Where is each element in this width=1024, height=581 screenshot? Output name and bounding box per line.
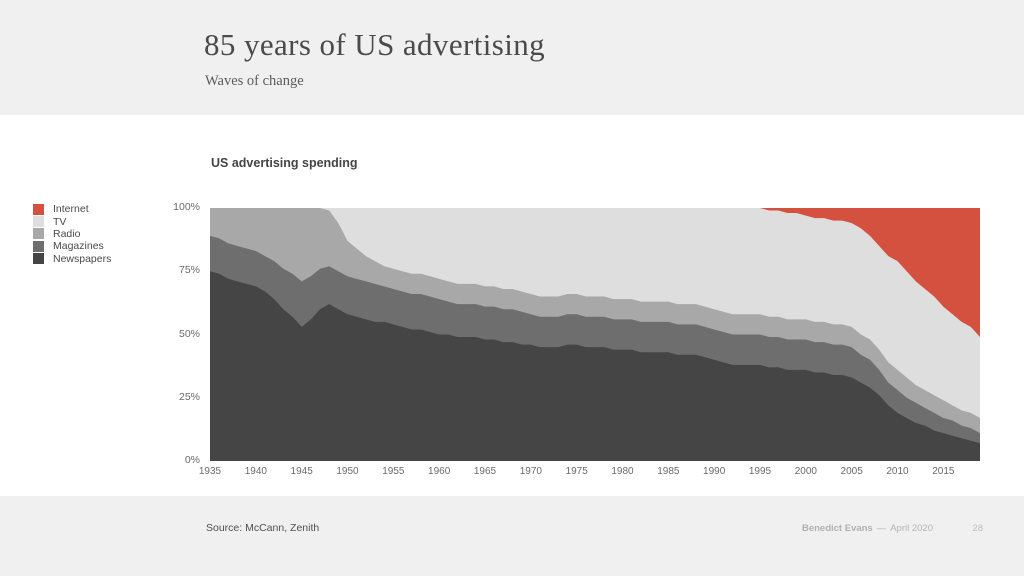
y-axis-tick-label: 50%: [140, 328, 200, 340]
legend-swatch-icon: [33, 216, 44, 227]
y-axis-tick-label: 0%: [140, 454, 200, 466]
legend-item-label: Internet: [53, 203, 89, 215]
legend-item-label: TV: [53, 216, 66, 228]
credit-dash: —: [877, 523, 887, 534]
legend-swatch-icon: [33, 253, 44, 264]
author-name: Benedict Evans: [802, 523, 873, 534]
legend-item-label: Magazines: [53, 240, 104, 252]
area-band-newspapers: [210, 271, 980, 461]
legend-item[interactable]: Radio: [33, 228, 111, 240]
page-subtitle: Waves of change: [205, 73, 304, 90]
footer-credit: Benedict Evans—April 2020: [802, 523, 933, 534]
legend-item[interactable]: Internet: [33, 203, 111, 215]
area-band-internet: [210, 208, 980, 461]
area-band-tv: [210, 208, 980, 461]
chart-title: US advertising spending: [211, 156, 358, 170]
area-band-magazines: [210, 236, 980, 461]
page-title: 85 years of US advertising: [204, 27, 545, 63]
legend-item-label: Radio: [53, 228, 80, 240]
chart-legend: InternetTVRadioMagazinesNewspapers: [33, 203, 111, 265]
page-number: 28: [972, 523, 983, 534]
legend-item[interactable]: TV: [33, 215, 111, 227]
legend-swatch-icon: [33, 228, 44, 239]
legend-item[interactable]: Newspapers: [33, 253, 111, 265]
credit-date: April 2020: [890, 523, 933, 534]
legend-swatch-icon: [33, 241, 44, 252]
source-note: Source: McCann, Zenith: [206, 522, 319, 534]
legend-swatch-icon: [33, 204, 44, 215]
slide-canvas: 85 years of US advertising Waves of chan…: [0, 0, 1024, 576]
footer-band: [0, 496, 1024, 576]
y-axis-tick-label: 100%: [140, 201, 200, 213]
legend-item[interactable]: Magazines: [33, 240, 111, 252]
y-axis-tick-label: 75%: [140, 264, 200, 276]
y-axis-tick-label: 25%: [140, 391, 200, 403]
legend-item-label: Newspapers: [53, 253, 111, 265]
area-band-radio: [210, 208, 980, 461]
x-axis-tick-label: 2015: [913, 466, 973, 477]
